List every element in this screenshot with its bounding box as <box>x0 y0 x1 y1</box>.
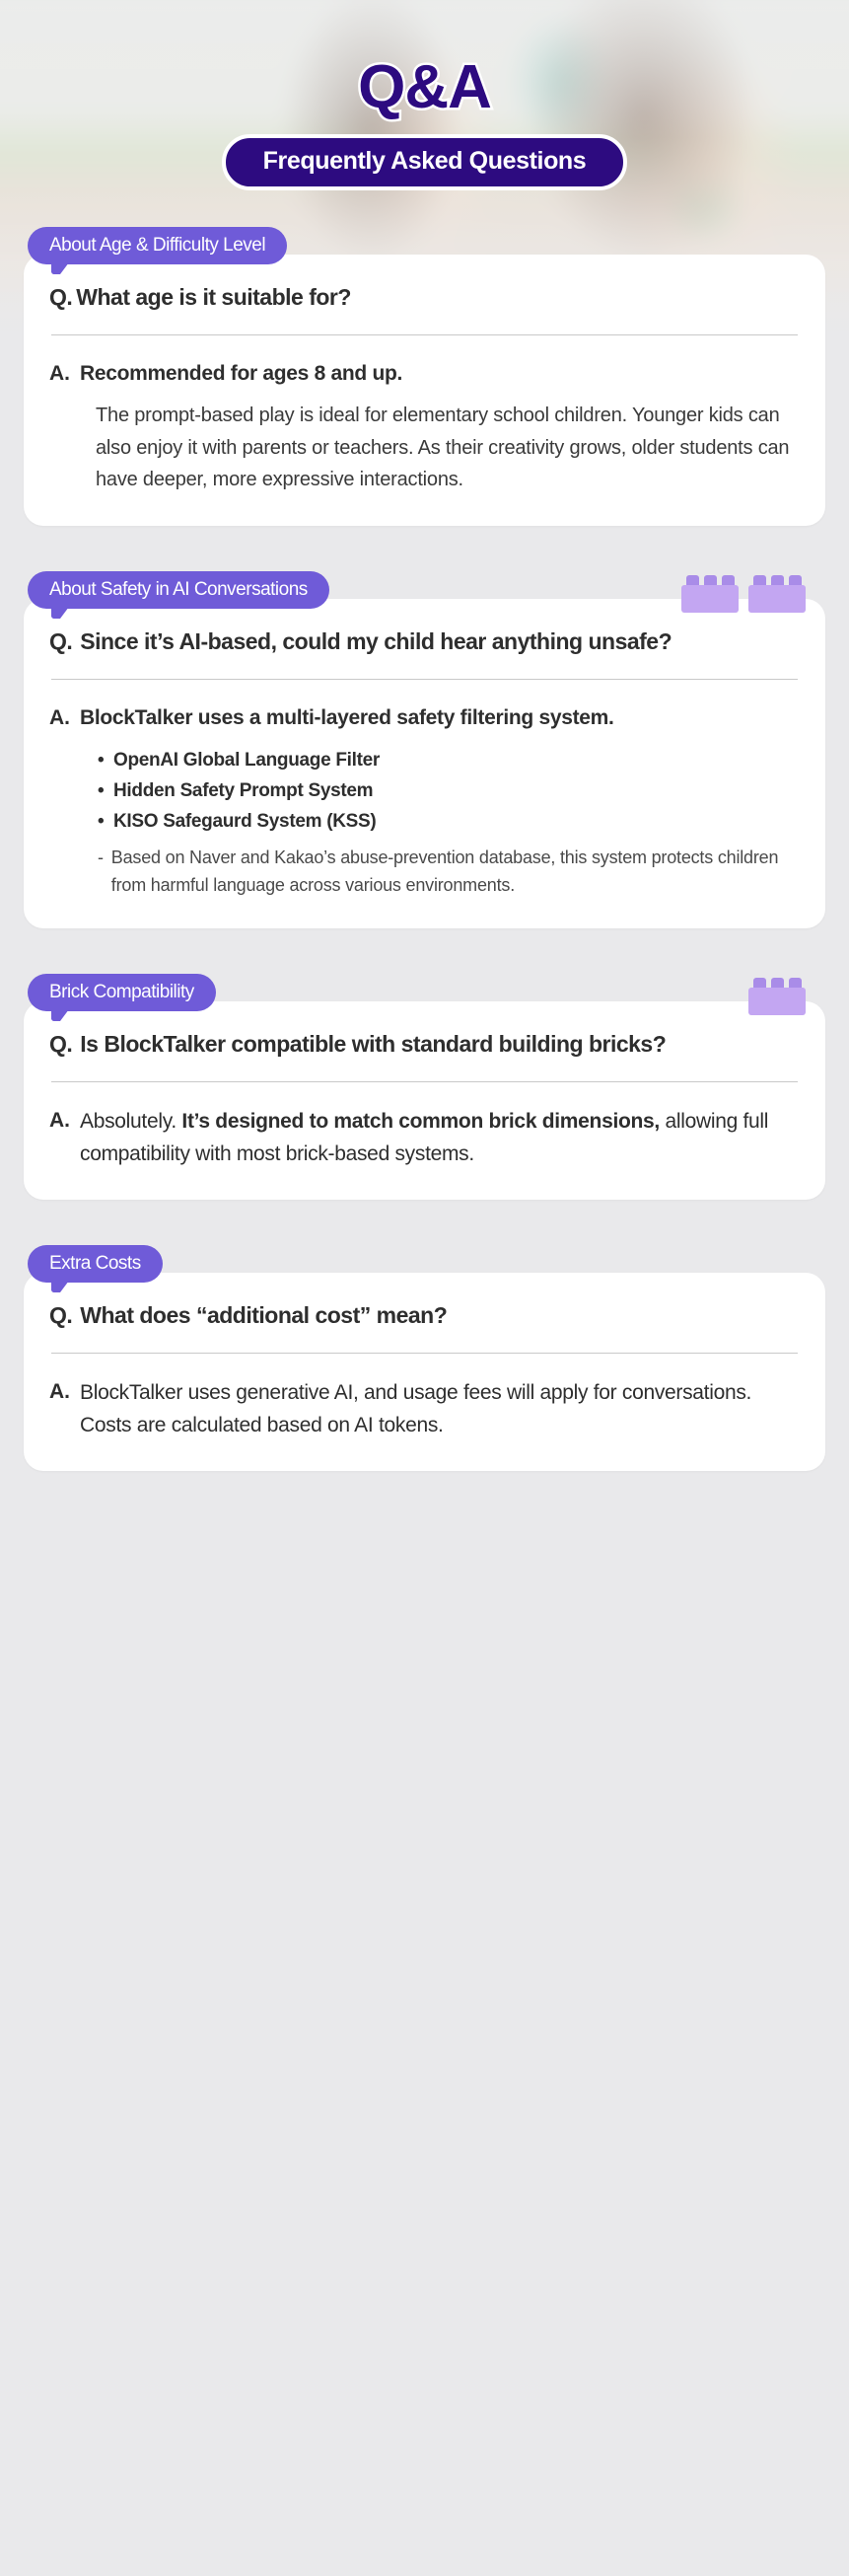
faq-tag-row: About Age & Difficulty Level <box>24 227 825 268</box>
note-dash: - <box>98 845 104 899</box>
answer-line: A. Absolutely. It’s designed to match co… <box>49 1106 800 1170</box>
lego-brick-icon <box>681 575 739 613</box>
lego-brick-decoration <box>681 575 806 613</box>
card-divider <box>51 1353 798 1354</box>
faq-block: Brick Compatibility Q. Is BlockTa <box>24 974 825 1200</box>
answer-headline: Recommended for ages 8 and up. <box>80 359 800 388</box>
answer-rich-text: Absolutely. It’s designed to match commo… <box>80 1106 800 1170</box>
safety-feature-list: OpenAI Global Language Filter Hidden Saf… <box>80 746 800 837</box>
question-line: Q. What does “additional cost” mean? <box>49 1300 800 1331</box>
faq-block: About Age & Difficulty Level Q. What age… <box>24 227 825 526</box>
answer-line: A. Recommended for ages 8 and up. The pr… <box>49 359 800 496</box>
question-line: Q. Since it’s AI-based, could my child h… <box>49 626 800 657</box>
brick-stud-icon <box>722 575 735 586</box>
faq-category-tag: About Safety in AI Conversations <box>28 571 329 609</box>
faq-card[interactable]: Q. What does “additional cost” mean? A. … <box>24 1273 825 1471</box>
question-text: Since it’s AI-based, could my child hear… <box>80 626 672 657</box>
question-text: What age is it suitable for? <box>76 282 351 313</box>
question-marker: Q. <box>49 282 72 313</box>
answer-marker: A. <box>49 703 70 732</box>
brick-body <box>681 585 739 613</box>
faq-tag-row: Extra Costs <box>24 1245 825 1287</box>
faq-tag-row: Brick Compatibility <box>24 974 825 1015</box>
lego-brick-icon <box>748 575 806 613</box>
question-text: What does “additional cost” mean? <box>80 1300 447 1331</box>
question-line: Q. Is BlockTalker compatible with standa… <box>49 1029 800 1060</box>
brick-stud-icon <box>704 575 717 586</box>
answer-marker: A. <box>49 359 70 388</box>
faq-block: Extra Costs Q. What does “additional cos… <box>24 1245 825 1471</box>
answer-note: - Based on Naver and Kakao’s abuse-preve… <box>80 845 800 899</box>
list-item: Hidden Safety Prompt System <box>98 776 800 807</box>
list-item: OpenAI Global Language Filter <box>98 746 800 776</box>
faq-category-tag: About Age & Difficulty Level <box>28 227 287 264</box>
question-marker: Q. <box>49 1029 72 1060</box>
faq-card[interactable]: Q. Is BlockTalker compatible with standa… <box>24 1001 825 1200</box>
faq-card[interactable]: Q. What age is it suitable for? A. Recom… <box>24 255 825 526</box>
answer-paragraph: The prompt-based play is ideal for eleme… <box>80 400 800 495</box>
answer-line: A. BlockTalker uses a multi-layered safe… <box>49 703 800 899</box>
note-text: Based on Naver and Kakao’s abuse-prevent… <box>111 845 800 899</box>
faq-block: About Safety in AI Conversations <box>24 571 825 928</box>
faq-category-tag: Brick Compatibility <box>28 974 216 1011</box>
faq-card[interactable]: Q. Since it’s AI-based, could my child h… <box>24 599 825 928</box>
question-marker: Q. <box>49 626 72 657</box>
lego-brick-icon <box>748 978 806 1015</box>
hero-subtitle-pill: Frequently Asked Questions <box>222 134 628 190</box>
brick-body <box>748 585 806 613</box>
brick-stud-icon <box>789 575 802 586</box>
answer-headline: BlockTalker uses a multi-layered safety … <box>80 703 800 732</box>
answer-line: A. BlockTalker uses generative AI, and u… <box>49 1377 800 1441</box>
card-divider <box>51 679 798 680</box>
lego-brick-decoration <box>748 978 806 1015</box>
card-divider <box>51 1081 798 1082</box>
question-marker: Q. <box>49 1300 72 1331</box>
answer-marker: A. <box>49 1377 70 1406</box>
answer-marker: A. <box>49 1106 70 1135</box>
faq-category-tag: Extra Costs <box>28 1245 163 1283</box>
question-line: Q. What age is it suitable for? <box>49 282 800 313</box>
brick-stud-icon <box>753 575 766 586</box>
brick-body <box>748 988 806 1015</box>
brick-stud-icon <box>771 575 784 586</box>
brick-stud-icon <box>686 575 699 586</box>
question-text: Is BlockTalker compatible with standard … <box>80 1029 666 1060</box>
page-title: Q&A <box>358 57 491 118</box>
faq-tag-row: About Safety in AI Conversations <box>24 571 825 613</box>
list-item: KISO Safegaurd System (KSS) <box>98 807 800 838</box>
answer-paragraph: BlockTalker uses generative AI, and usag… <box>80 1377 800 1441</box>
card-divider <box>51 334 798 335</box>
faq-page: Q&A Frequently Asked Questions About Age… <box>0 0 849 2576</box>
faq-list: About Age & Difficulty Level Q. What age… <box>0 227 849 1510</box>
